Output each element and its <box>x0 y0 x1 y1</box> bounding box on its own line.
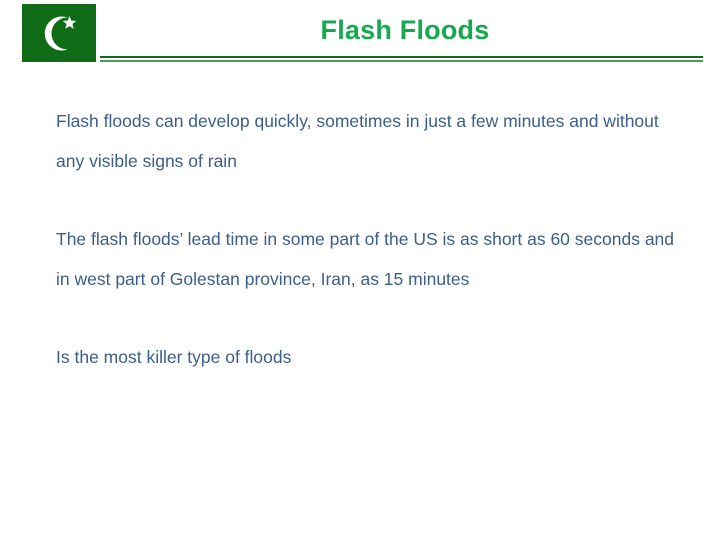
slide: Flash Floods Flash floods can develop qu… <box>0 0 720 540</box>
divider-line-thin <box>100 60 703 62</box>
title-divider <box>100 56 703 63</box>
slide-body: Flash floods can develop quickly, someti… <box>56 101 680 377</box>
page-title: Flash Floods <box>110 14 700 46</box>
pakistan-flag-icon <box>22 4 96 62</box>
crescent-star-icon <box>22 4 96 62</box>
slide-header: Flash Floods <box>0 0 720 72</box>
body-paragraph-3: Is the most killer type of floods <box>56 337 680 377</box>
body-paragraph-1: Flash floods can develop quickly, someti… <box>56 101 680 181</box>
body-paragraph-2: The flash floods’ lead time in some part… <box>56 219 680 299</box>
